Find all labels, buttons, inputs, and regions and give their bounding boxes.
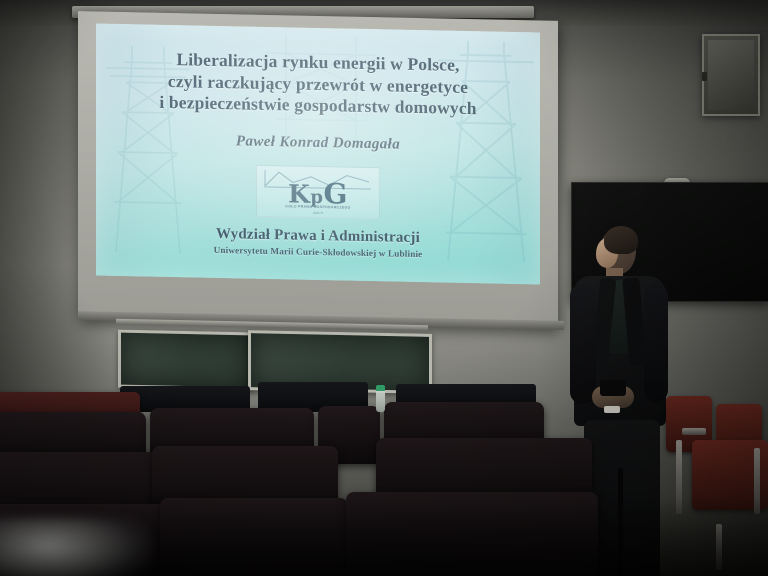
water-bottle-cap[interactable] (376, 385, 385, 391)
slide-faculty: Wydział Prawa i Administracji (216, 225, 420, 246)
water-bottle[interactable] (376, 390, 385, 412)
kpg-logo: KpG KOŁO PRAWA GOSPODARCZEGO UMCS (256, 164, 380, 218)
logo-subtitle-secondary: UMCS (257, 209, 379, 215)
wall-cabinet[interactable] (702, 34, 760, 116)
slide-title: Liberalizacja rynku energii w Polsce, cz… (96, 48, 540, 121)
slide-author: Paweł Konrad Domagała (236, 133, 400, 153)
lecture-hall-photo: Liberalizacja rynku energii w Polsce, cz… (0, 0, 768, 576)
cabinet-latch-icon[interactable] (702, 72, 707, 81)
projected-slide: Liberalizacja rynku energii w Polsce, cz… (96, 24, 540, 285)
seat-frame-b (682, 428, 706, 435)
cabinet-glass (708, 40, 754, 110)
presenter-hair (604, 226, 638, 254)
foreground-blurred-object (0, 518, 150, 576)
slide-university: Uniwersytetu Marii Curie-Skłodowskiej w … (214, 244, 423, 258)
